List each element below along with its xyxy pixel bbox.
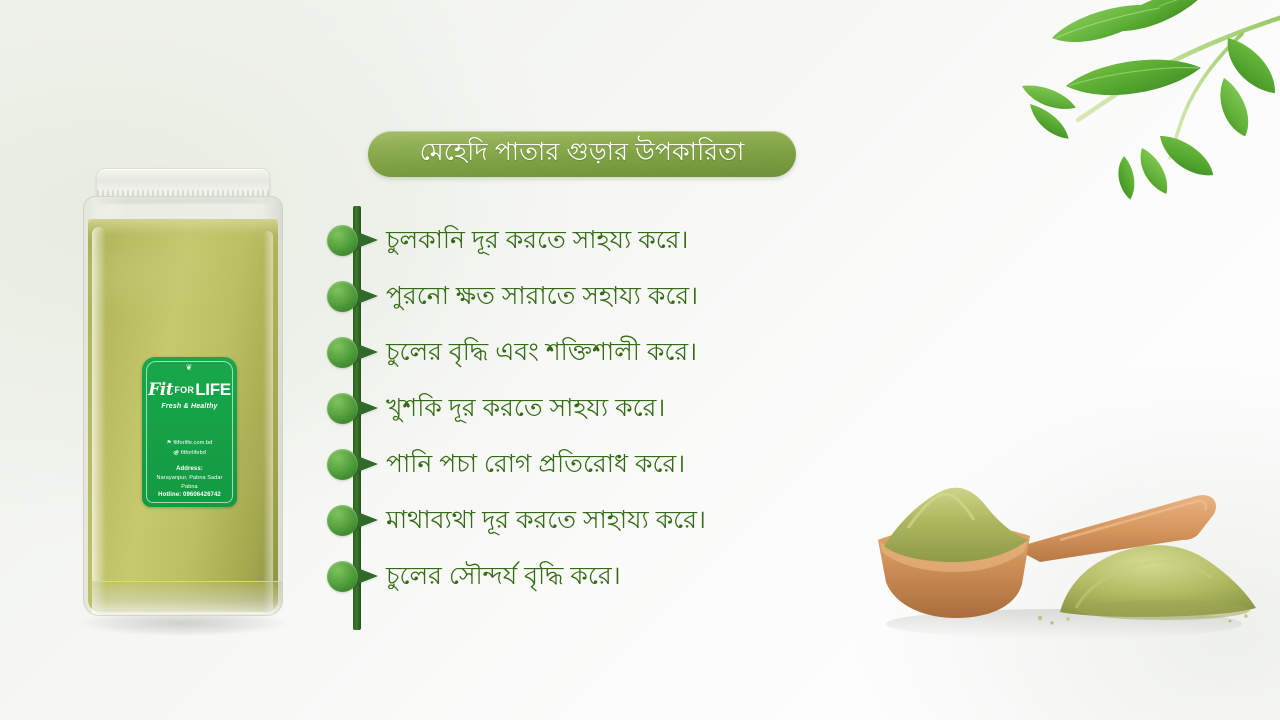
label-website-line: ⚑ fitforlife.com.bd <box>142 439 237 449</box>
benefit-text: পানি পচা রোগ প্রতিরোধ করে। <box>386 450 685 479</box>
label-address-line2: Pabna <box>142 483 237 492</box>
label-address-line1: Narayanpur, Pabna Sadar <box>142 474 237 483</box>
label-address-heading: Address: <box>142 465 237 474</box>
benefit-text: মাথাব্যথা দূর করতে সাহায্য করে। <box>386 506 706 535</box>
brand-name-for: FOR <box>174 385 194 395</box>
title-banner: মেহেদি পাতার গুড়ার উপকারিতা <box>368 131 796 177</box>
label-website: fitforlife.com.bd <box>173 440 212 446</box>
label-address-block: Address: Narayanpur, Pabna Sadar Pabna H… <box>142 465 237 501</box>
list-item: চুলের বৃদ্ধি এবং শক্তিশালী করে। <box>326 324 946 380</box>
bullet-arrow-icon <box>326 553 388 599</box>
benefit-text: খুশকি দূর করতে সাহয্য করে। <box>386 394 665 423</box>
label-social: fitforlifebd <box>181 450 206 456</box>
bullet-arrow-icon <box>326 273 388 319</box>
product-jar-image: ❦ FitFORLIFE Fresh & Healthy ⚑ fitforlif… <box>78 168 288 630</box>
benefit-text: পুরনো ক্ষত সারাতে সহায্য করে। <box>386 282 698 311</box>
henna-leaf-branch-image <box>956 0 1280 202</box>
benefit-text: চুলের বৃদ্ধি এবং শক্তিশালী করে। <box>386 338 697 367</box>
label-ornament-icon: ❦ <box>142 364 237 372</box>
label-hotline: Hotline: 09606426742 <box>142 491 237 500</box>
benefit-text: চুলের সৌন্দর্য বৃদ্ধি করে। <box>386 562 621 591</box>
list-item: মাথাব্যথা দূর করতে সাহায্য করে। <box>326 492 946 548</box>
bullet-arrow-icon <box>326 497 388 543</box>
list-item: পানি পচা রোগ প্রতিরোধ করে। <box>326 436 946 492</box>
jar-body: ❦ FitFORLIFE Fresh & Healthy ⚑ fitforlif… <box>83 196 283 616</box>
benefits-list: চুলকানি দূর করতে সাহয্য করে। পুরনো ক্ষত … <box>326 212 946 604</box>
bullet-arrow-icon <box>326 217 388 263</box>
brand-tagline: Fresh & Healthy <box>142 403 237 410</box>
list-item: পুরনো ক্ষত সারাতে সহায্য করে। <box>326 268 946 324</box>
brand-name-fit: Fit <box>148 380 173 400</box>
jar-base <box>92 581 283 615</box>
product-label: ❦ FitFORLIFE Fresh & Healthy ⚑ fitforlif… <box>142 357 237 507</box>
benefit-text: চুলকানি দূর করতে সাহয্য করে। <box>386 226 688 255</box>
bullet-arrow-icon <box>326 385 388 431</box>
brand-logo: FitFORLIFE <box>142 381 237 399</box>
list-item: খুশকি দূর করতে সাহয্য করে। <box>326 380 946 436</box>
bullet-arrow-icon <box>326 329 388 375</box>
label-contact-block: ⚑ fitforlife.com.bd ⚣ fitforlifebd <box>142 439 237 458</box>
bullet-arrow-icon <box>326 441 388 487</box>
label-social-line: ⚣ fitforlifebd <box>142 449 237 459</box>
list-item: চুলের সৌন্দর্য বৃদ্ধি করে। <box>326 548 946 604</box>
jar-highlight-right <box>263 231 273 616</box>
page-title: মেহেদি পাতার গুড়ার উপকারিতা <box>420 140 745 168</box>
list-item: চুলকানি দূর করতে সাহয্য করে। <box>326 212 946 268</box>
bowl-with-henna-powder-image <box>864 466 1274 646</box>
poster-canvas: মেহেদি পাতার গুড়ার উপকারিতা চুলকানি দূর… <box>0 0 1280 720</box>
jar-highlight-left <box>92 227 106 616</box>
brand-name-life: LIFE <box>195 380 231 399</box>
